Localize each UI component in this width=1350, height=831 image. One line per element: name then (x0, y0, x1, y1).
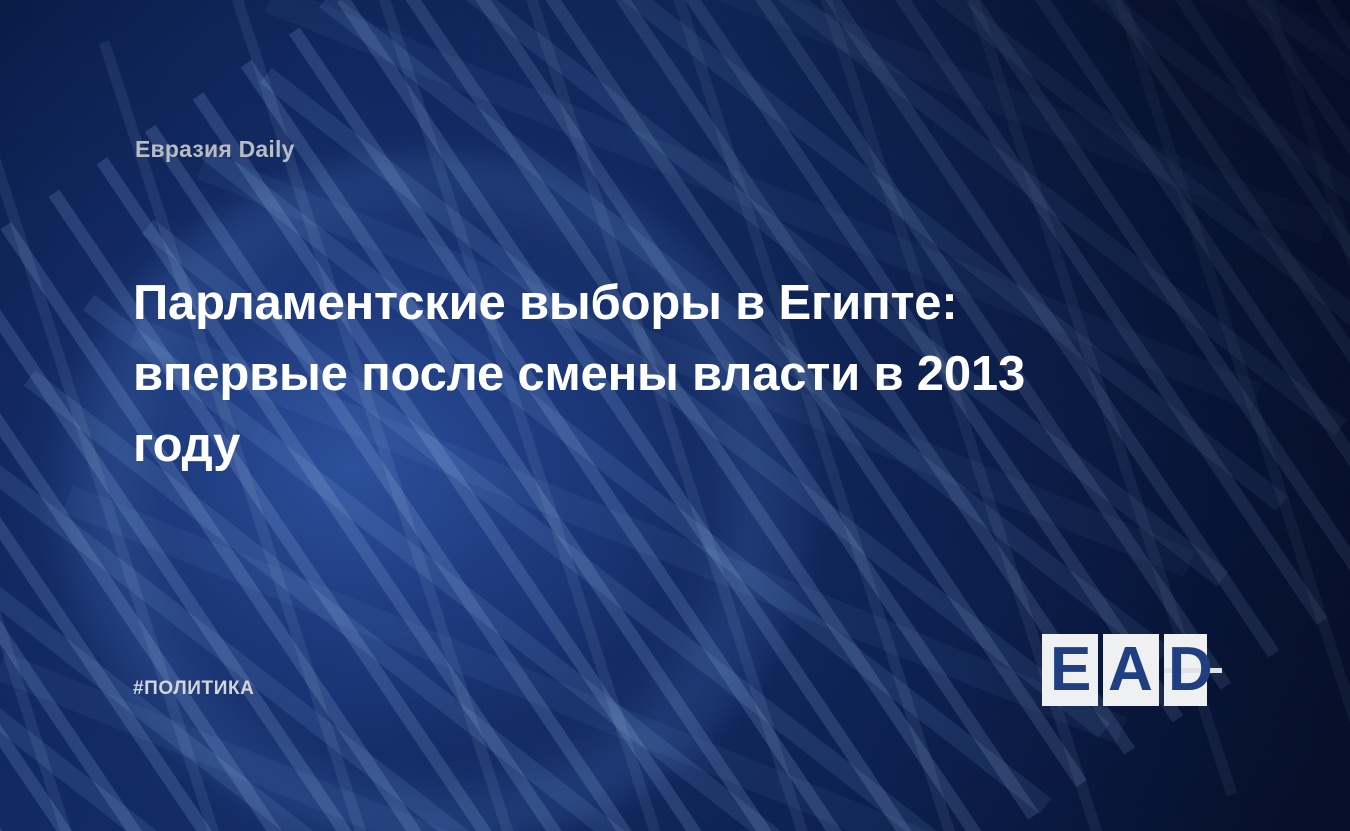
logo-letter-d: D (1168, 634, 1213, 706)
category-tag-politics[interactable]: #ПОЛИТИКА (133, 678, 255, 700)
article-share-card: Евразия Daily Парламентские выборы в Еги… (0, 0, 1350, 831)
eadaily-logo[interactable]: E A D (1042, 631, 1222, 711)
page-title: Парламентские выборы в Египте: впервые п… (133, 268, 1143, 481)
logo-letter-e: E (1050, 634, 1091, 706)
card-content: Евразия Daily Парламентские выборы в Еги… (0, 0, 1350, 831)
logo-letter-a: A (1108, 634, 1153, 706)
publication-brand: Евразия Daily (135, 136, 295, 163)
